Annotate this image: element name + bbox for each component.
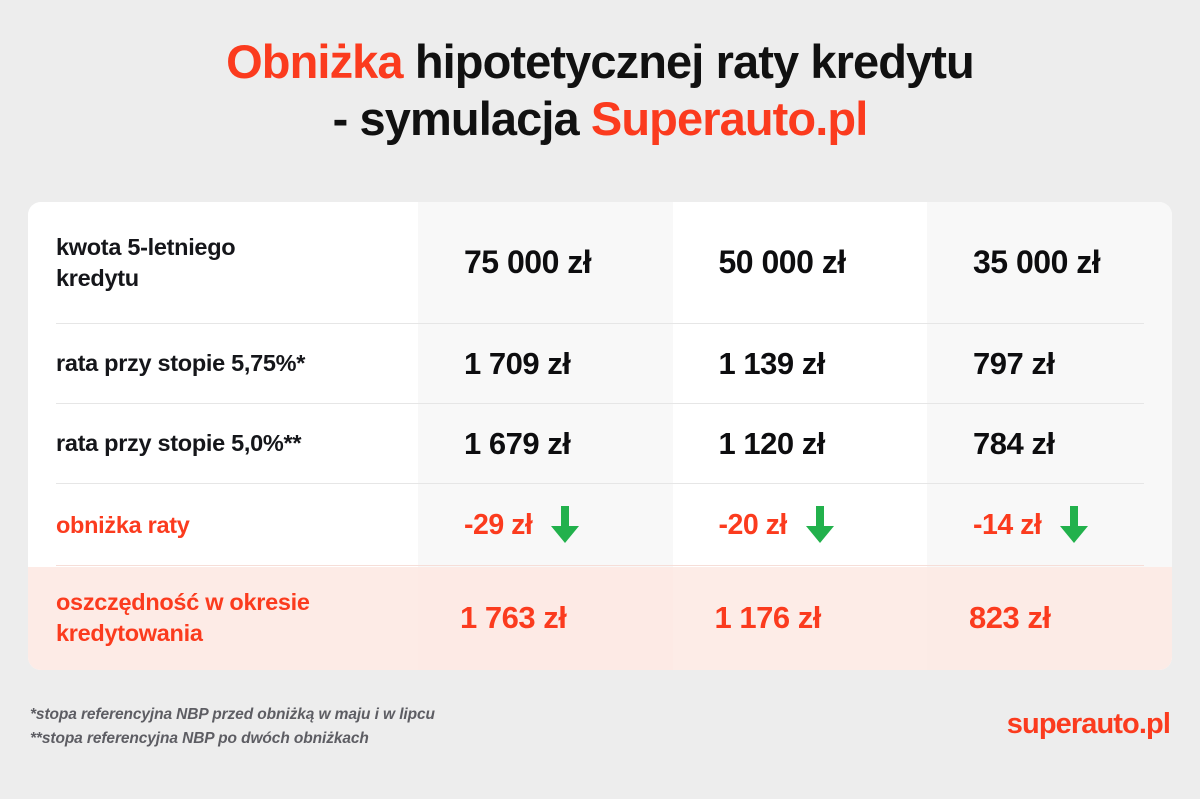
row-label-cell: rata przy stopie 5,75%*: [28, 324, 418, 404]
table-cell: -29 zł: [418, 484, 673, 566]
cell-value: 1 763 zł: [418, 600, 673, 636]
table-cell: 50 000 zł: [673, 202, 928, 324]
table-cell: 784 zł: [927, 404, 1172, 484]
table-cell: 797 zł: [927, 324, 1172, 404]
row-label: kwota 5-letniego kredytu: [28, 232, 418, 295]
row-label: rata przy stopie 5,75%*: [28, 348, 418, 379]
cell-value: 1 709 zł: [418, 346, 673, 382]
table-cell: 35 000 zł: [927, 202, 1172, 324]
footnotes: *stopa referencyjna NBP przed obniżką w …: [30, 703, 435, 751]
table-cell: 823 zł: [927, 567, 1172, 670]
cell-value: -29 zł: [464, 509, 532, 542]
arrow-down-icon: [550, 506, 580, 544]
cell-value: 75 000 zł: [418, 244, 673, 281]
cell-value: 50 000 zł: [673, 244, 928, 281]
comparison-table: kwota 5-letniego kredytu 75 000 zł 50 00…: [28, 202, 1172, 670]
comparison-table-card: kwota 5-letniego kredytu 75 000 zł 50 00…: [28, 202, 1172, 670]
row-label: obniżka raty: [28, 510, 418, 541]
cell-value-group: -14 zł: [927, 506, 1172, 544]
arrow-down-icon: [1059, 506, 1089, 544]
table-row: kwota 5-letniego kredytu 75 000 zł 50 00…: [28, 202, 1172, 324]
cell-value: 1 120 zł: [673, 426, 928, 462]
cell-value: 1 679 zł: [418, 426, 673, 462]
page-title-rest-2: - symulacja: [333, 92, 591, 145]
page-title-accent-2: Superauto.pl: [591, 92, 867, 145]
table-row: rata przy stopie 5,0%** 1 679 zł 1 120 z…: [28, 404, 1172, 484]
table-cell: 1 139 zł: [673, 324, 928, 404]
arrow-down-icon: [805, 506, 835, 544]
row-label: oszczędność w okresie kredytowania: [28, 587, 418, 650]
row-label-cell: rata przy stopie 5,0%**: [28, 404, 418, 484]
cell-value-group: -29 zł: [418, 506, 673, 544]
row-label-cell: kwota 5-letniego kredytu: [28, 202, 418, 324]
table-cell: 75 000 zł: [418, 202, 673, 324]
cell-value: 35 000 zł: [927, 244, 1172, 281]
table-cell: 1 679 zł: [418, 404, 673, 484]
table-cell: 1 709 zł: [418, 324, 673, 404]
cell-value: 1 176 zł: [673, 600, 928, 636]
row-label-line-1: kwota 5-letniego: [56, 234, 235, 260]
table-cell: 1 763 zł: [418, 567, 673, 670]
footnote-2: **stopa referencyjna NBP po dwóch obniżk…: [30, 727, 435, 751]
cell-value: 797 zł: [927, 346, 1172, 382]
table-row: oszczędność w okresie kredytowania 1 763…: [28, 567, 1172, 670]
page-title: Obniżka hipotetycznej raty kredytu - sym…: [0, 0, 1200, 147]
cell-value: -20 zł: [719, 509, 787, 542]
cell-value: -14 zł: [973, 509, 1041, 542]
row-label-cell: oszczędność w okresie kredytowania: [28, 567, 418, 670]
row-label: rata przy stopie 5,0%**: [28, 428, 418, 459]
table-row: rata przy stopie 5,75%* 1 709 zł 1 139 z…: [28, 324, 1172, 404]
page-title-accent-1: Obniżka: [226, 35, 403, 88]
superauto-logo: superauto.pl: [1007, 708, 1170, 741]
row-label-line-2: kredytu: [56, 265, 139, 291]
table-cell: 1 176 zł: [673, 567, 928, 670]
cell-value-group: -20 zł: [673, 506, 928, 544]
page-title-line-1: Obniżka hipotetycznej raty kredytu: [0, 34, 1200, 89]
page-title-rest-1: hipotetycznej raty kredytu: [403, 35, 974, 88]
table-cell: -14 zł: [927, 484, 1172, 566]
table-cell: 1 120 zł: [673, 404, 928, 484]
table-row: obniżka raty -29 zł -20 zł: [28, 484, 1172, 566]
row-label-cell: obniżka raty: [28, 484, 418, 566]
page-title-line-2: - symulacja Superauto.pl: [0, 91, 1200, 146]
row-label-line-2: kredytowania: [56, 620, 203, 646]
table-cell: -20 zł: [673, 484, 928, 566]
row-label-line-1: oszczędność w okresie: [56, 589, 310, 615]
cell-value: 784 zł: [927, 426, 1172, 462]
cell-value: 823 zł: [927, 600, 1172, 636]
footnote-1: *stopa referencyjna NBP przed obniżką w …: [30, 703, 435, 727]
cell-value: 1 139 zł: [673, 346, 928, 382]
